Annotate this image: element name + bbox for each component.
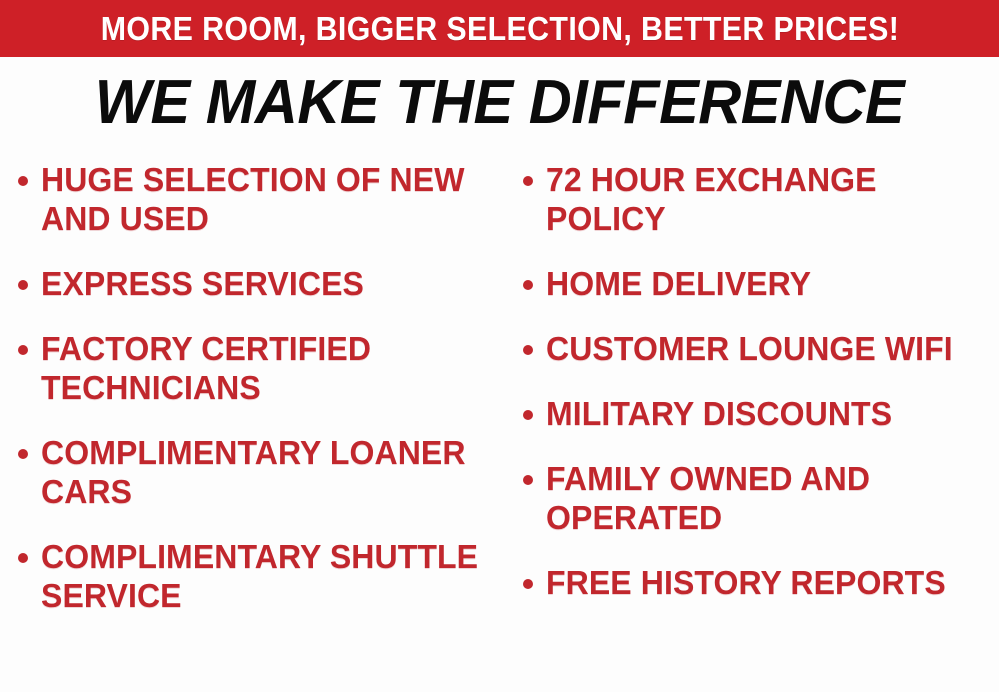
page-title: WE MAKE THE DIFFERENCE <box>20 72 979 134</box>
list-item: HOME DELIVERY <box>523 264 999 303</box>
list-item: FACTORY CERTIFIED TECHNICIANS <box>18 329 501 407</box>
list-item: MILITARY DISCOUNTS <box>523 394 999 433</box>
top-promo-banner: MORE ROOM, BIGGER SELECTION, BETTER PRIC… <box>0 0 999 57</box>
list-item: 72 HOUR EXCHANGE POLICY <box>523 160 999 238</box>
list-item: FREE HISTORY REPORTS <box>523 563 999 602</box>
list-item-label: FREE HISTORY REPORTS <box>546 563 985 602</box>
list-item: CUSTOMER LOUNGE WIFI <box>523 329 999 368</box>
benefits-columns: HUGE SELECTION OF NEW AND USED EXPRESS S… <box>0 160 999 692</box>
bullet-dot-icon <box>18 449 28 459</box>
bullet-dot-icon <box>523 345 533 355</box>
bullet-dot-icon <box>523 176 533 186</box>
list-item-label: HOME DELIVERY <box>546 264 985 303</box>
list-item: EXPRESS SERVICES <box>18 264 501 303</box>
dealership-promo-banner: MORE ROOM, BIGGER SELECTION, BETTER PRIC… <box>0 0 999 692</box>
list-item-label: HUGE SELECTION OF NEW AND USED <box>41 160 487 238</box>
list-item-label: COMPLIMENTARY SHUTTLE SERVICE <box>41 537 487 615</box>
list-item-label: MILITARY DISCOUNTS <box>546 394 985 433</box>
bullet-dot-icon <box>18 176 28 186</box>
benefits-column-right: 72 HOUR EXCHANGE POLICY HOME DELIVERY CU… <box>505 160 999 628</box>
list-item-label: FAMILY OWNED AND OPERATED <box>546 459 985 537</box>
list-item: COMPLIMENTARY LOANER CARS <box>18 433 501 511</box>
top-promo-banner-text: MORE ROOM, BIGGER SELECTION, BETTER PRIC… <box>100 12 898 45</box>
bullet-dot-icon <box>523 280 533 290</box>
bullet-dot-icon <box>523 410 533 420</box>
list-item: COMPLIMENTARY SHUTTLE SERVICE <box>18 537 501 615</box>
bullet-dot-icon <box>18 280 28 290</box>
list-item-label: EXPRESS SERVICES <box>41 264 487 303</box>
bullet-dot-icon <box>523 475 533 485</box>
list-item-label: CUSTOMER LOUNGE WIFI <box>546 329 985 368</box>
list-item: HUGE SELECTION OF NEW AND USED <box>18 160 501 238</box>
bullet-dot-icon <box>18 553 28 563</box>
list-item-label: FACTORY CERTIFIED TECHNICIANS <box>41 329 487 407</box>
bullet-dot-icon <box>523 579 533 589</box>
benefits-column-left: HUGE SELECTION OF NEW AND USED EXPRESS S… <box>0 160 505 641</box>
list-item-label: COMPLIMENTARY LOANER CARS <box>41 433 487 511</box>
list-item: FAMILY OWNED AND OPERATED <box>523 459 999 537</box>
list-item-label: 72 HOUR EXCHANGE POLICY <box>546 160 985 238</box>
bullet-dot-icon <box>18 345 28 355</box>
